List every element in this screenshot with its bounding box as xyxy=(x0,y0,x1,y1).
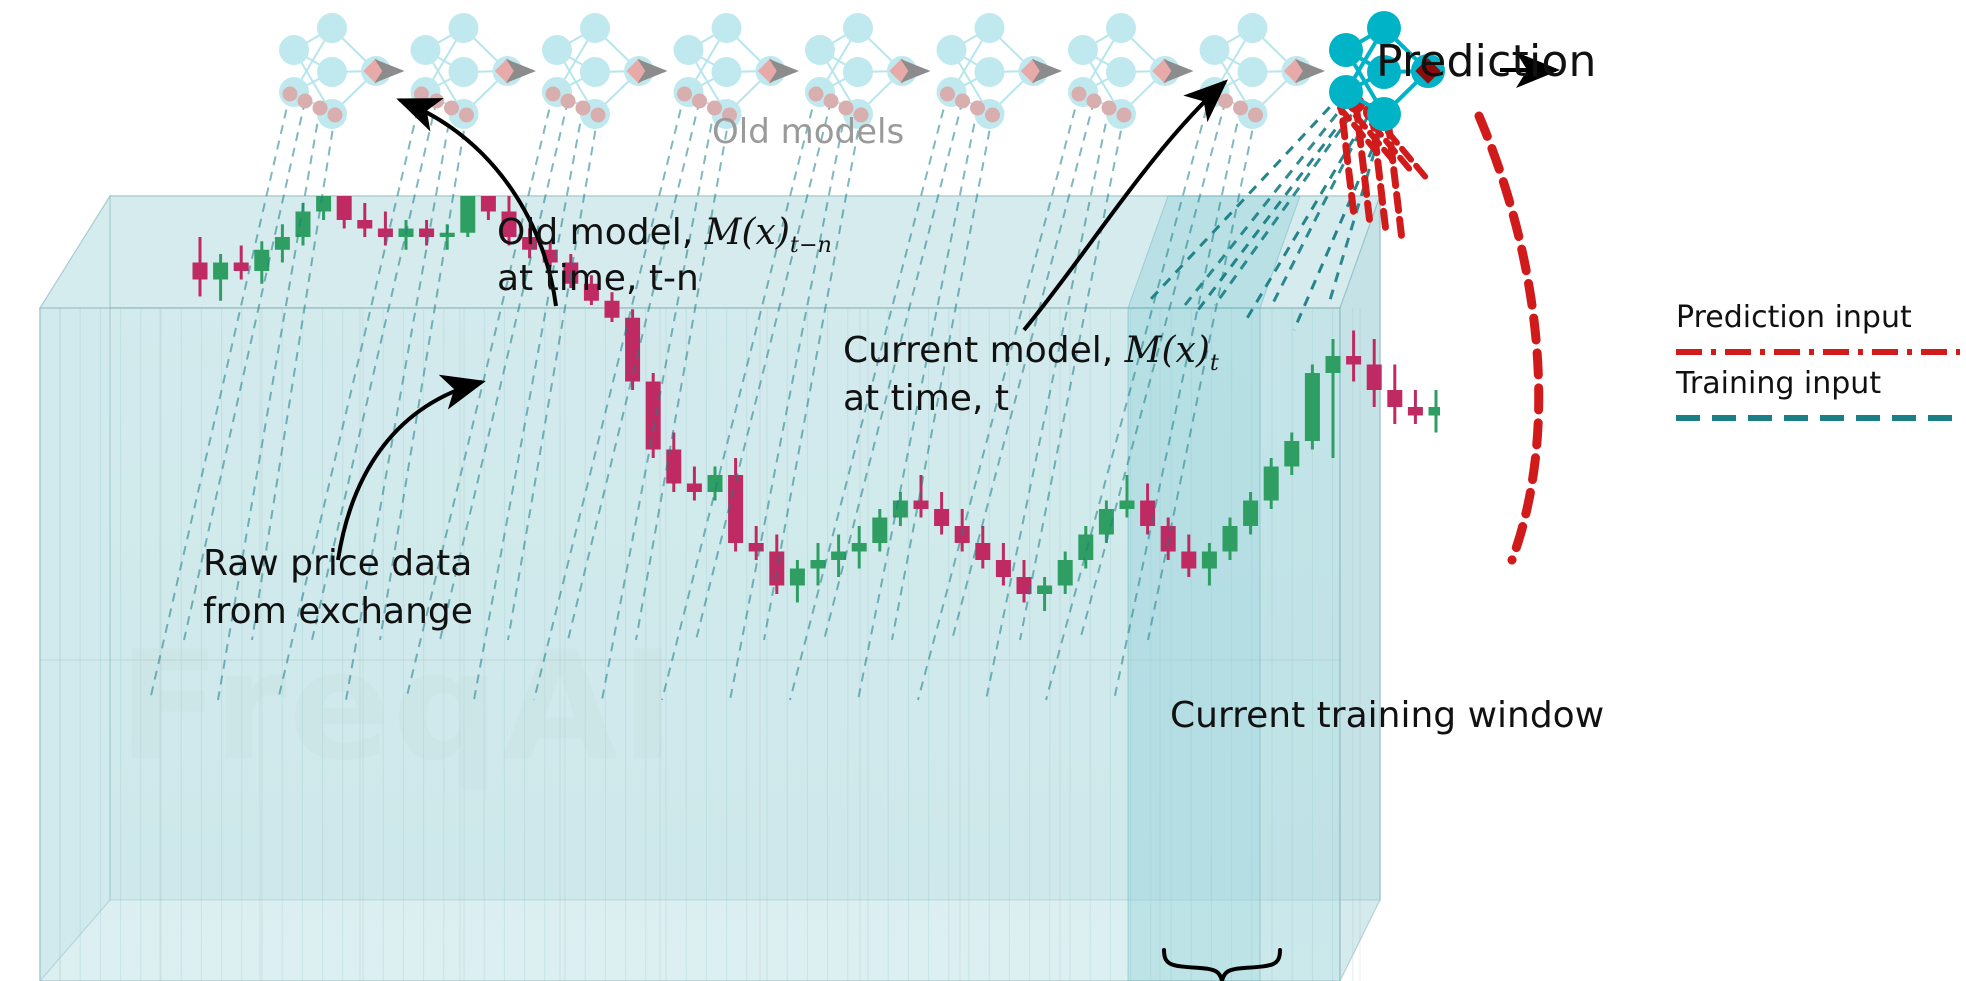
old-model-callout-text: Old model, xyxy=(497,212,705,253)
legend-label-training-input: Training input xyxy=(1676,366,1881,401)
old-models-label: Old models xyxy=(712,112,904,152)
current-training-window-label: Current training window xyxy=(1170,695,1604,736)
prediction-label: Prediction xyxy=(1376,36,1597,87)
current-model-callout: Current model, M(x)t xyxy=(843,330,1219,376)
old-model-callout: Old model, M(x)t−n xyxy=(497,212,832,258)
old-model-formula: M(x) xyxy=(705,212,790,253)
current-model-formula-subscript: t xyxy=(1210,350,1219,376)
training-window-highlight xyxy=(1128,196,1340,981)
diagram-canvas: FreqAI xyxy=(0,0,1966,981)
old-model-callout-line2: at time, t-n xyxy=(497,258,699,299)
current-model-callout-line2: at time, t xyxy=(843,378,1009,419)
current-model-callout-text: Current model, xyxy=(843,330,1125,371)
old-model-formula-subscript: t−n xyxy=(790,232,832,258)
diagram-svg xyxy=(0,0,1966,981)
raw-price-callout-line2: from exchange xyxy=(203,591,473,632)
legend-label-prediction-input: Prediction input xyxy=(1676,300,1912,335)
raw-price-callout-line1: Raw price data xyxy=(203,543,472,584)
prediction-output-curve xyxy=(1479,116,1539,560)
current-model-formula: M(x) xyxy=(1125,330,1210,371)
